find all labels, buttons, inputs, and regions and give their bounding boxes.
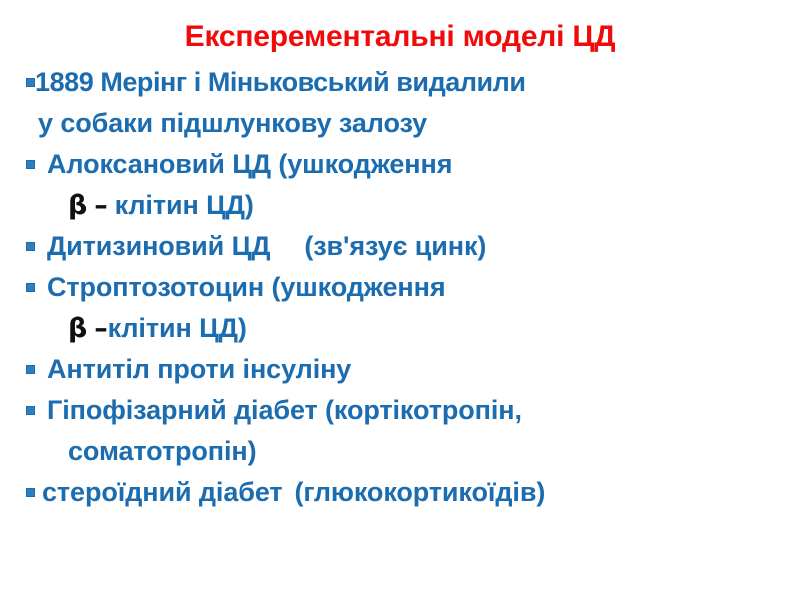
square-bullet-icon: [26, 365, 35, 374]
square-bullet-icon: [26, 488, 35, 497]
list-item: 1889 Мерінг і Міньковський видалили: [0, 62, 800, 103]
list-item-note: (глюкокортикоїдів): [295, 477, 546, 507]
beta-symbol: β: [68, 313, 87, 344]
list-item-continuation: у собаки підшлункову залозу: [0, 103, 800, 144]
list-item-continuation: соматотропін): [0, 431, 800, 472]
square-bullet-icon: [26, 283, 35, 292]
page-title: Експерементальні моделі ЦД: [0, 20, 800, 54]
square-bullet-icon: [26, 78, 35, 87]
list-item-label: 1889 Мерінг і Міньковський видалили: [35, 67, 526, 97]
bullet-list: 1889 Мерінг і Міньковський видалили у со…: [0, 62, 800, 513]
list-item: Гіпофізарний діабет (кортікотропін,: [0, 390, 800, 431]
list-item-label: Дитизиновий ЦД: [47, 231, 270, 261]
slide-canvas: Експерементальні моделі ЦД 1889 Мерінг і…: [0, 0, 800, 600]
list-item-label: Антитіл проти інсуліну: [47, 354, 351, 384]
square-bullet-icon: [26, 242, 35, 251]
list-item: Строптозотоцин (ушкодження: [0, 267, 800, 308]
list-item-label: у собаки підшлункову залозу: [38, 108, 427, 138]
list-item-continuation: β–клітин ЦД): [0, 185, 800, 226]
list-item-label: Строптозотоцин (ушкодження: [47, 272, 445, 302]
square-bullet-icon: [26, 160, 35, 169]
square-bullet-icon: [26, 406, 35, 415]
list-item: стероїдний діабет(глюкокортикоїдів): [0, 472, 800, 513]
list-item-label: Алоксановий ЦД (ушкодження: [47, 149, 452, 179]
list-item-label: клітин ЦД): [108, 313, 247, 343]
list-item-label: Гіпофізарний діабет (кортікотропін,: [47, 395, 522, 425]
list-item-label: клітин ЦД): [115, 190, 254, 220]
beta-symbol: β: [68, 190, 87, 221]
list-item-label: соматотропін): [68, 436, 257, 466]
list-item: Антитіл проти інсуліну: [0, 349, 800, 390]
list-item-note: (зв'язує цинк): [304, 231, 486, 261]
list-item: Алоксановий ЦД (ушкодження: [0, 144, 800, 185]
list-item: Дитизиновий ЦД(зв'язує цинк): [0, 226, 800, 267]
list-item-label: стероїдний діабет: [42, 477, 283, 507]
dash-symbol: –: [94, 313, 107, 344]
dash-symbol: –: [94, 190, 107, 221]
list-item-continuation: β–клітин ЦД): [0, 308, 800, 349]
